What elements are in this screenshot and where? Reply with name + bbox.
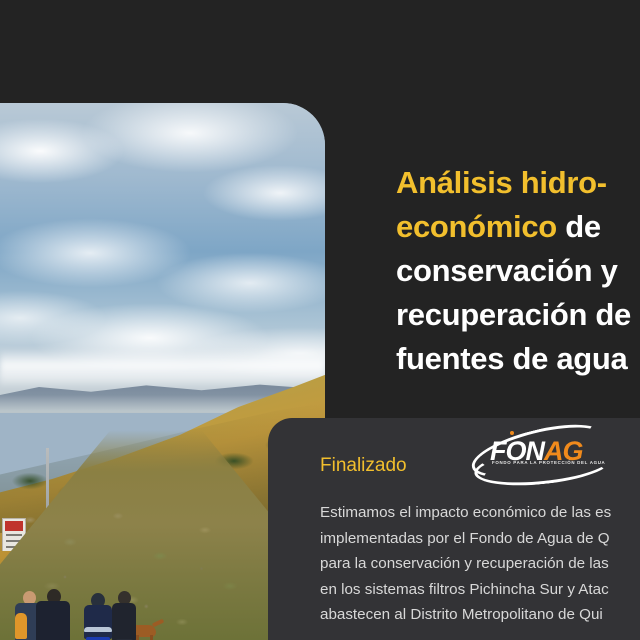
project-card-page: Análisis hidro- económico de conservació… <box>0 0 640 640</box>
person-torso <box>112 603 136 640</box>
person-vest <box>15 613 27 639</box>
person-torso <box>36 601 70 640</box>
fonag-logo: FONAG FONDO PARA LA PROTECCIÓN DEL AGUA <box>466 424 612 482</box>
person-reflective-stripe <box>84 627 112 632</box>
cloud-band <box>0 349 325 385</box>
project-description: Estimamos el impacto económico de las es… <box>320 500 640 628</box>
status-badge: Finalizado <box>320 455 407 477</box>
person-torso <box>84 605 112 639</box>
dog-leg <box>150 635 153 640</box>
project-info-panel: Finalizado FONAG FONDO PARA LA PROTECCIÓ… <box>268 418 640 640</box>
dog-leg <box>136 635 139 640</box>
logo-accent-dot <box>510 431 514 435</box>
page-title: Análisis hidro- económico de conservació… <box>396 161 640 381</box>
logo-tagline: FONDO PARA LA PROTECCIÓN DEL AGUA <box>492 460 605 465</box>
